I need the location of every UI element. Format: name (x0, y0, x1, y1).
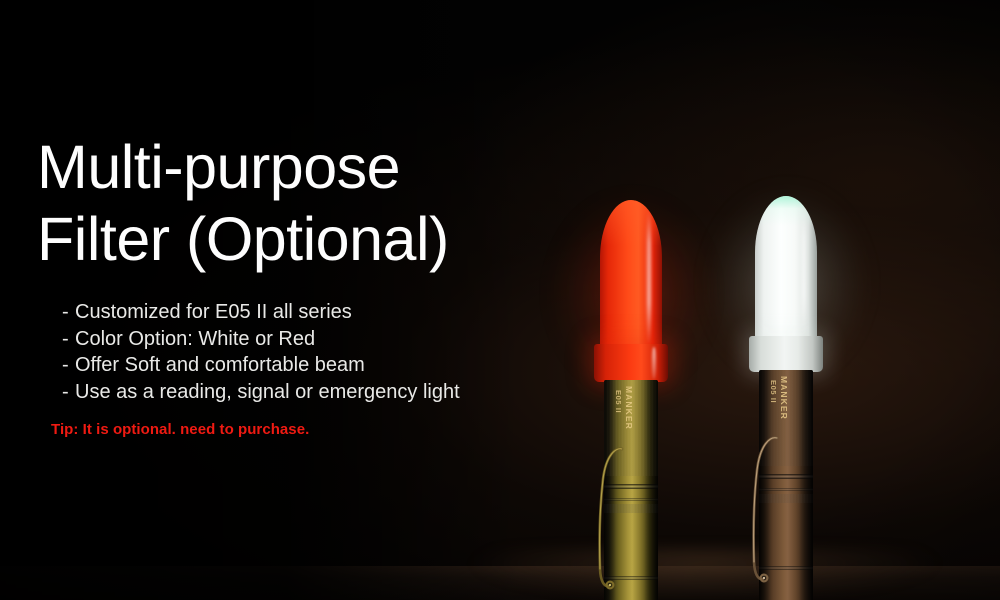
bullet-dash: - (62, 379, 75, 406)
white-diffuser-cone (755, 196, 817, 344)
white-filter-flashlight: MANKER E05 II M (755, 196, 817, 600)
background-floor-highlight (470, 548, 940, 600)
bullet-dash: - (62, 326, 75, 353)
pocket-clip (594, 445, 628, 595)
list-item: -Customized for E05 II all series (62, 299, 557, 326)
bullet-dash: - (62, 299, 75, 326)
red-diffuser-collar (594, 344, 667, 382)
red-filter-flashlight: MANKER E05 II M (600, 200, 662, 600)
feature-list: -Customized for E05 II all series -Color… (62, 299, 557, 405)
white-diffuser-collar (749, 336, 822, 372)
list-item: -Color Option: White or Red (62, 326, 557, 353)
feature-text: Color Option: White or Red (75, 328, 315, 350)
copy-block: Multi-purpose Filter (Optional) -Customi… (37, 131, 557, 438)
feature-text: Customized for E05 II all series (75, 301, 352, 323)
headline-line-2: Filter (Optional) (37, 203, 557, 275)
pocket-clip (747, 434, 783, 589)
product-banner: MANKER E05 II M (0, 0, 1000, 600)
feature-text: Offer Soft and comfortable beam (75, 354, 365, 376)
list-item: -Use as a reading, signal or emergency l… (62, 379, 557, 406)
headline-line-1: Multi-purpose (37, 131, 557, 203)
list-item: -Offer Soft and comfortable beam (62, 352, 557, 379)
feature-text: Use as a reading, signal or emergency li… (75, 381, 460, 403)
tip-note: Tip: It is optional. need to purchase. (51, 421, 557, 438)
red-diffuser-cone (600, 200, 662, 352)
bullet-dash: - (62, 352, 75, 379)
